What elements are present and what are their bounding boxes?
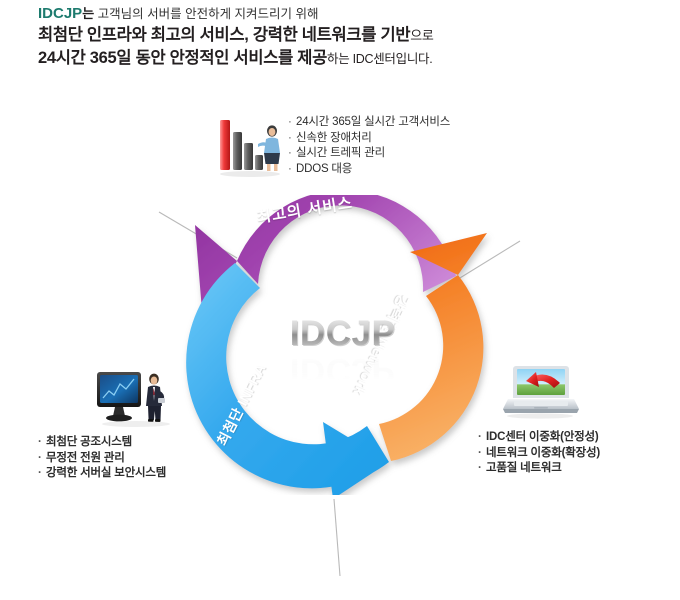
- header-line-1-rest: 고객님의 서버를 안전하게 지켜드리기 위해: [94, 7, 318, 21]
- header-line-1-particle: 는: [82, 6, 94, 21]
- header-line-2-thin: 으로: [410, 28, 433, 43]
- bullet-dot: ·: [478, 461, 486, 477]
- bullets-network: ·IDC센터 이중화(안정성) ·네트워크 이중화(확장성) ·고품질 네트워크: [478, 430, 600, 477]
- icon-shadow: [220, 171, 280, 177]
- header-line-2-bold: 최첨단 인프라와 최고의 서비스, 강력한 네트워크를 기반: [38, 26, 410, 44]
- header-line-3-bold: 24시간 365일 동안 안정적인 서비스를 제공: [38, 49, 327, 67]
- infographic-canvas: IDCJP는 고객님의 서버를 안전하게 지켜드리기 위해 최첨단 인프라와 최…: [0, 0, 680, 600]
- list-item: ·24시간 365일 실시간 고객서비스: [288, 115, 450, 131]
- cycle-diagram: [175, 195, 505, 495]
- list-item-label: 24시간 365일 실시간 고객서비스: [296, 116, 450, 128]
- bullet-dot: ·: [38, 466, 46, 482]
- header-line-3: 24시간 365일 동안 안정적인 서비스를 제공하는 IDC센터입니다.: [38, 47, 638, 70]
- list-item-label: 네트워크 이중화(확장성): [486, 447, 600, 459]
- list-item-label: 무정전 전원 관리: [46, 452, 125, 464]
- list-item: ·고품질 네트워크: [478, 461, 600, 477]
- bullet-dot: ·: [288, 146, 296, 162]
- list-item-label: 신속한 장애처리: [296, 132, 372, 144]
- bullets-service: ·24시간 365일 실시간 고객서비스 ·신속한 장애처리 ·실시간 트레픽 …: [288, 115, 450, 177]
- list-item-label: DDOS 대응: [296, 163, 352, 175]
- list-item: ·무정전 전원 관리: [38, 451, 166, 467]
- list-item-label: IDC센터 이중화(안정성): [486, 431, 599, 443]
- list-item-label: 고품질 네트워크: [486, 462, 562, 474]
- businessman-figure: [146, 374, 165, 422]
- desktop-monitor-with-businessman-icon: [94, 362, 174, 438]
- bullet-dot: ·: [38, 451, 46, 467]
- chart-bar-4: [255, 155, 263, 170]
- monitor-screen: [100, 375, 138, 403]
- chart-bar-3: [244, 143, 253, 170]
- brand-name: IDCJP: [38, 5, 82, 22]
- connector-infra: [334, 499, 340, 576]
- header-line-1: IDCJP는 고객님의 서버를 안전하게 지켜드리기 위해: [38, 4, 638, 24]
- bullet-dot: ·: [478, 430, 486, 446]
- list-item: ·강력한 서버실 보안시스템: [38, 466, 166, 482]
- header-line-3-thin: 하는 IDC센터입니다.: [327, 52, 432, 66]
- bullets-infra: ·최첨단 공조시스템 ·무정전 전원 관리 ·강력한 서버실 보안시스템: [38, 435, 166, 482]
- bullet-dot: ·: [288, 115, 296, 131]
- bullet-dot: ·: [288, 162, 296, 178]
- laptop-trackpad: [534, 407, 548, 409]
- list-item-label: 최첨단 공조시스템: [46, 436, 132, 448]
- list-item-label: 강력한 서버실 보안시스템: [46, 467, 166, 479]
- laptop-front-edge: [503, 409, 579, 413]
- list-item: ·실시간 트레픽 관리: [288, 146, 450, 162]
- list-item-label: 실시간 트레픽 관리: [296, 147, 385, 159]
- cycle-segment-infra: [186, 263, 389, 495]
- page-header: IDCJP는 고객님의 서버를 안전하게 지켜드리기 위해 최첨단 인프라와 최…: [38, 4, 638, 70]
- icon-shadow: [507, 413, 573, 418]
- bar-chart-with-person-icon: [214, 108, 286, 180]
- bullet-dot: ·: [38, 435, 46, 451]
- list-item: ·신속한 장애처리: [288, 131, 450, 147]
- chart-bar-2: [233, 132, 242, 170]
- monitor-base: [106, 415, 132, 422]
- list-item: ·네트워크 이중화(확장성): [478, 446, 600, 462]
- list-item: ·IDC센터 이중화(안정성): [478, 430, 600, 446]
- laptop-keyboard: [514, 401, 568, 406]
- bullet-dot: ·: [288, 131, 296, 147]
- list-item: ·DDOS 대응: [288, 162, 450, 178]
- list-item: ·최첨단 공조시스템: [38, 435, 166, 451]
- bullet-dot: ·: [478, 446, 486, 462]
- laptop-with-red-arrow-icon: [500, 358, 580, 428]
- header-line-2: 최첨단 인프라와 최고의 서비스, 강력한 네트워크를 기반으로: [38, 24, 638, 47]
- icon-shadow: [102, 421, 170, 427]
- chart-bar-1: [220, 120, 230, 170]
